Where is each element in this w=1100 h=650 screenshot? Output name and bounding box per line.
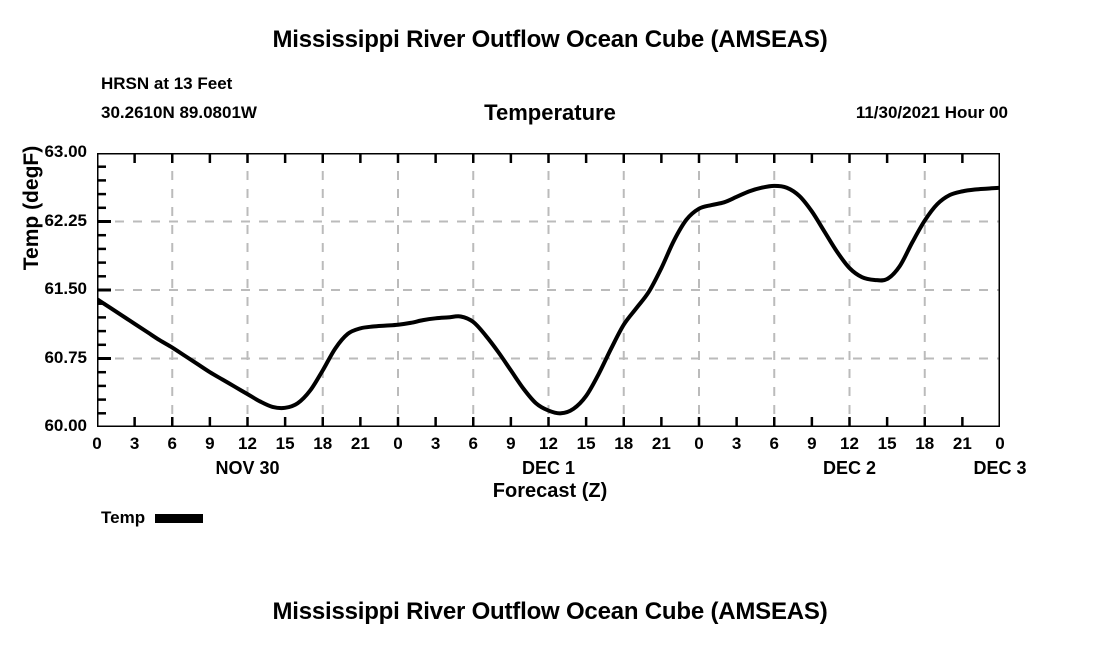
legend-swatch-temp [155, 514, 203, 523]
x-tick-label: 6 [152, 434, 192, 454]
x-tick-label: 21 [340, 434, 380, 454]
x-tick-label: 15 [566, 434, 606, 454]
x-tick-label: 0 [77, 434, 117, 454]
x-tick-label: 9 [190, 434, 230, 454]
x-tick-label: 6 [453, 434, 493, 454]
chart-page: Mississippi River Outflow Ocean Cube (AM… [0, 0, 1100, 650]
x-tick-label: 15 [867, 434, 907, 454]
y-tick-label: 62.25 [0, 211, 87, 231]
x-tick-label: 18 [604, 434, 644, 454]
x-tick-label: 21 [942, 434, 982, 454]
footer-title: Mississippi River Outflow Ocean Cube (AM… [0, 598, 1100, 626]
x-tick-label: 3 [717, 434, 757, 454]
x-tick-label: 18 [303, 434, 343, 454]
day-label: DEC 3 [920, 458, 1080, 479]
x-tick-label: 12 [228, 434, 268, 454]
x-tick-label: 12 [830, 434, 870, 454]
y-axis-ticks [97, 153, 111, 427]
y-tick-label: 61.50 [0, 279, 87, 299]
x-tick-label: 18 [905, 434, 945, 454]
x-tick-label: 0 [679, 434, 719, 454]
temperature-line-chart [97, 153, 1000, 427]
x-axis-title: Forecast (Z) [0, 480, 1100, 503]
x-tick-label: 12 [529, 434, 569, 454]
x-tick-label: 9 [491, 434, 531, 454]
x-tick-label: 0 [378, 434, 418, 454]
x-tick-label: 9 [792, 434, 832, 454]
x-tick-label: 3 [416, 434, 456, 454]
x-tick-label: 21 [641, 434, 681, 454]
model-run-label: 11/30/2021 Hour 00 [856, 103, 1008, 123]
page-title: Mississippi River Outflow Ocean Cube (AM… [0, 26, 1100, 54]
y-tick-label: 63.00 [0, 142, 87, 162]
day-label: NOV 30 [168, 458, 328, 479]
day-label: DEC 1 [469, 458, 629, 479]
x-tick-label: 0 [980, 434, 1020, 454]
x-tick-label: 6 [754, 434, 794, 454]
y-tick-label: 60.75 [0, 348, 87, 368]
x-tick-label: 15 [265, 434, 305, 454]
day-label: DEC 2 [770, 458, 930, 479]
legend-label-temp: Temp [101, 508, 145, 528]
x-tick-label: 3 [115, 434, 155, 454]
station-depth-label: HRSN at 13 Feet [101, 74, 232, 94]
legend: Temp [101, 508, 203, 528]
y-tick-label: 60.00 [0, 416, 87, 436]
plot-area [97, 153, 1000, 427]
